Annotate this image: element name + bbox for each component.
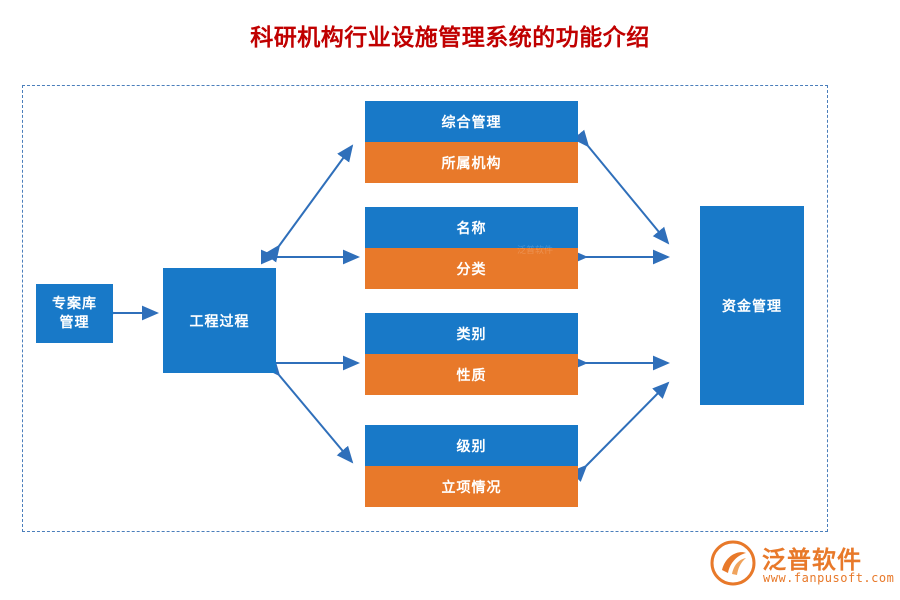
node-type[interactable]: 类别 [365,313,578,354]
node-level-label: 级别 [457,436,487,456]
node-project-status[interactable]: 立项情况 [365,466,578,507]
node-engineering-process[interactable]: 工程过程 [163,268,276,373]
node-level[interactable]: 级别 [365,425,578,466]
brand-name: 泛普软件 [762,540,862,575]
node-project-status-label: 立项情况 [442,477,502,497]
node-name-label: 名称 [457,218,487,238]
brand-mark-icon [710,540,756,586]
node-archive-management-line2: 管理 [60,314,90,333]
brand-logo: 泛普软件 www.fanpusoft.com [710,538,886,592]
node-name[interactable]: 名称 [365,207,578,248]
node-nature[interactable]: 性质 [365,354,578,395]
group-comprehensive-management: 综合管理 所属机构 [365,101,578,183]
node-affiliated-organization-label: 所属机构 [442,153,502,173]
group-level-project-status: 级别 立项情况 [365,425,578,507]
node-classification[interactable]: 分类 [365,248,578,289]
node-fund-management-label: 资金管理 [722,296,782,316]
group-type-nature: 类别 性质 [365,313,578,395]
node-affiliated-organization[interactable]: 所属机构 [365,142,578,183]
group-name-category: 名称 分类 [365,207,578,289]
node-nature-label: 性质 [457,365,487,385]
node-fund-management[interactable]: 资金管理 [700,206,804,405]
diagram-page: 科研机构行业设施管理系统的功能介绍 专案库 管理 工程过 [0,0,900,600]
node-archive-management-line1: 专案库 [52,295,97,314]
brand-url: www.fanpusoft.com [763,571,894,585]
node-archive-management[interactable]: 专案库 管理 [36,284,113,343]
node-classification-label: 分类 [457,259,487,279]
node-comprehensive-management[interactable]: 综合管理 [365,101,578,142]
node-comprehensive-management-label: 综合管理 [442,112,502,132]
node-type-label: 类别 [457,324,487,344]
page-title: 科研机构行业设施管理系统的功能介绍 [0,18,900,52]
node-engineering-process-label: 工程过程 [190,311,250,331]
